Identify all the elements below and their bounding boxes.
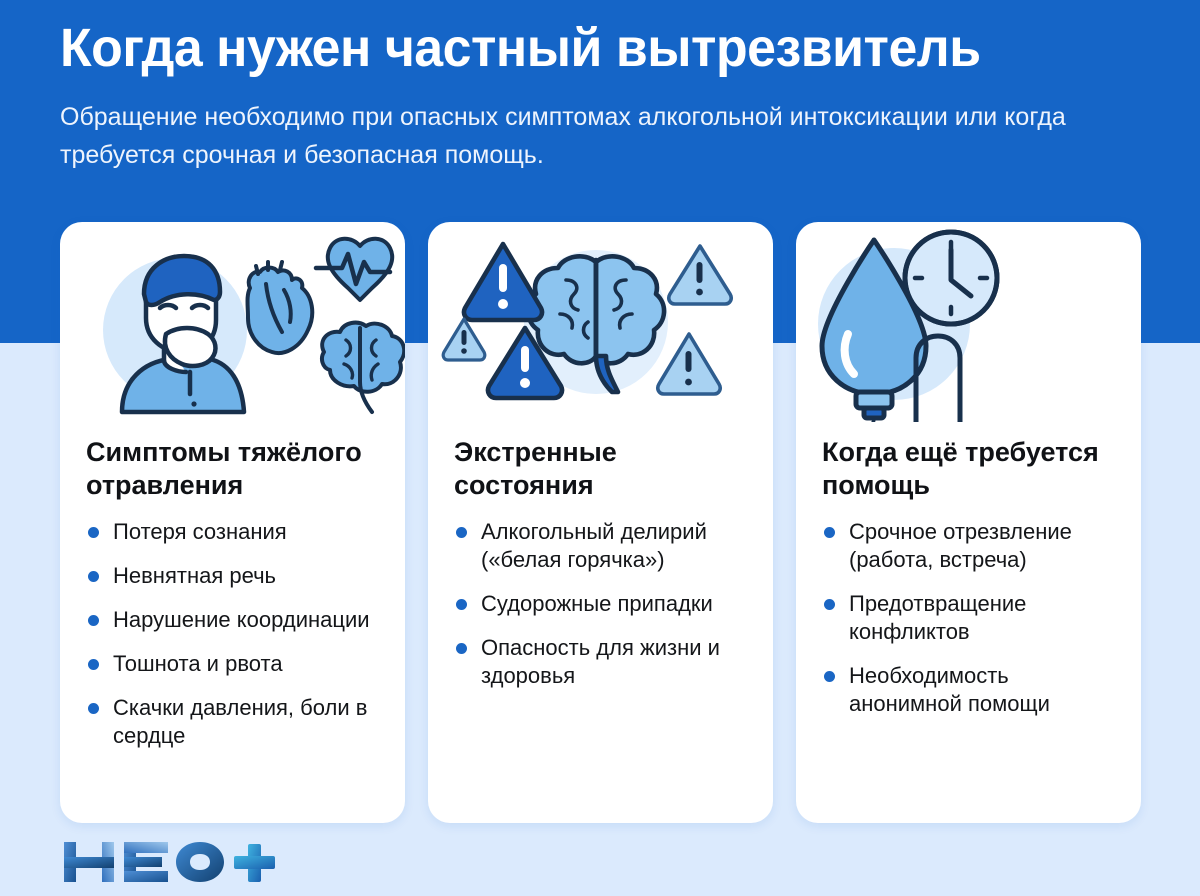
list-item-label: Судорожные припадки — [481, 591, 713, 616]
list-item: Судорожные припадки — [454, 590, 749, 618]
list-item-label: Невнятная речь — [113, 563, 276, 588]
heart-pulse-icon — [316, 239, 392, 300]
bullet-dot-icon — [88, 659, 99, 670]
page-title: Когда нужен частный вытрезвитель — [60, 14, 1116, 82]
list-item: Опасность для жизни и здоровья — [454, 634, 749, 690]
list-item: Предотвращение конфликтов — [822, 590, 1117, 646]
bullet-dot-icon — [88, 703, 99, 714]
clock-icon — [905, 232, 997, 324]
list-item-label: Опасность для жизни и здоровья — [481, 635, 720, 688]
logo-plus-icon — [234, 844, 275, 882]
card-severe-poisoning[interactable]: Симптомы тяжёлого отравления Потеря созн… — [60, 222, 405, 823]
list-item: Невнятная речь — [86, 562, 381, 590]
list-item-label: Нарушение координации — [113, 607, 370, 632]
card-body-emergency-states: Экстренные состояния Алкогольный делирий… — [428, 422, 773, 716]
logo-letter-e — [124, 842, 168, 882]
card-title: Когда ещё требуется помощь — [822, 436, 1117, 502]
card-title: Симптомы тяжёлого отравления — [86, 436, 381, 502]
card-grid: Симптомы тяжёлого отравления Потеря созн… — [60, 222, 1142, 823]
list-item-label: Необходимость анонимной помощи — [849, 663, 1050, 716]
logo-letter-o — [176, 842, 224, 882]
bullet-dot-icon — [824, 599, 835, 610]
infographic-root: Когда нужен частный вытрезвитель Обращен… — [0, 0, 1200, 896]
list-item-label: Предотвращение конфликтов — [849, 591, 1026, 644]
list-item-label: Скачки давления, боли в сердце — [113, 695, 367, 748]
warning-triangle-icon — [443, 319, 485, 360]
list-item-label: Срочное отрезвление (работа, встреча) — [849, 519, 1072, 572]
bullet-list: Алкогольный делирий («белая горячка») Су… — [454, 518, 749, 690]
list-item: Тошнота и рвота — [86, 650, 381, 678]
bullet-dot-icon — [456, 599, 467, 610]
list-item: Необходимость анонимной помощи — [822, 662, 1117, 718]
card-illustration-emergency-states — [428, 222, 773, 422]
card-when-else-help[interactable]: Когда ещё требуется помощь Срочное отрез… — [796, 222, 1141, 823]
list-item-label: Алкогольный делирий («белая горячка») — [481, 519, 707, 572]
bullet-list: Срочное отрезвление (работа, встреча) Пр… — [822, 518, 1117, 718]
page-subtitle: Обращение необходимо при опасных симптом… — [60, 98, 1080, 174]
warning-triangle-icon — [658, 334, 720, 394]
brain-icon — [322, 323, 404, 412]
card-title: Экстренные состояния — [454, 436, 749, 502]
anatomical-heart-icon — [248, 262, 313, 353]
bullet-dot-icon — [88, 615, 99, 626]
list-item: Срочное отрезвление (работа, встреча) — [822, 518, 1117, 574]
warning-triangle-icon — [669, 246, 731, 304]
list-item: Нарушение координации — [86, 606, 381, 634]
list-item: Потеря сознания — [86, 518, 381, 546]
bullet-dot-icon — [456, 527, 467, 538]
brand-logo[interactable] — [62, 838, 292, 886]
card-illustration-when-else-help — [796, 222, 1141, 422]
card-illustration-severe-poisoning — [60, 222, 405, 422]
logo-letter-n — [64, 842, 114, 882]
card-body-severe-poisoning: Симптомы тяжёлого отравления Потеря созн… — [60, 422, 405, 776]
list-item-label: Потеря сознания — [113, 519, 287, 544]
bullet-list: Потеря сознания Невнятная речь Нарушение… — [86, 518, 381, 750]
bullet-dot-icon — [824, 671, 835, 682]
bullet-dot-icon — [88, 571, 99, 582]
bullet-dot-icon — [88, 527, 99, 538]
list-item: Скачки давления, боли в сердце — [86, 694, 381, 750]
list-item-label: Тошнота и рвота — [113, 651, 283, 676]
header: Когда нужен частный вытрезвитель Обращен… — [60, 14, 1160, 174]
card-emergency-states[interactable]: Экстренные состояния Алкогольный делирий… — [428, 222, 773, 823]
list-item: Алкогольный делирий («белая горячка») — [454, 518, 749, 574]
card-body-when-else-help: Когда ещё требуется помощь Срочное отрез… — [796, 422, 1141, 744]
warning-triangle-icon — [464, 244, 542, 320]
bullet-dot-icon — [824, 527, 835, 538]
bullet-dot-icon — [456, 643, 467, 654]
